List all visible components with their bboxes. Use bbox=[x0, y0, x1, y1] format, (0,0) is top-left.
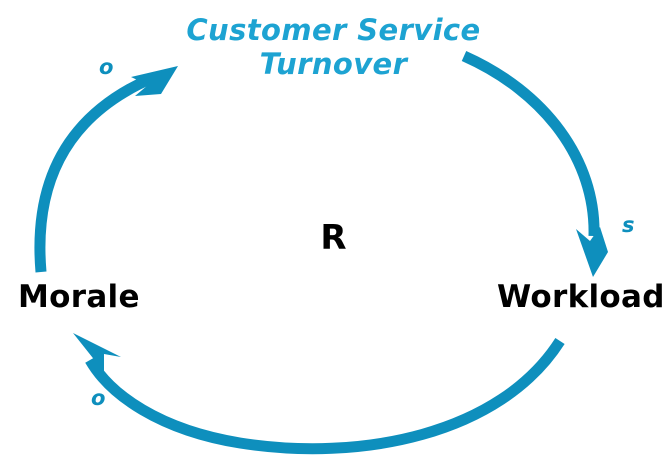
arrow-shaft-right bbox=[464, 56, 594, 236]
diagram-title-line-1: Customer Service bbox=[0, 14, 667, 48]
loop-type-label-reinforcing: R bbox=[0, 221, 667, 255]
arrow-workload-to-morale bbox=[73, 333, 560, 449]
polarity-label-right: s bbox=[622, 215, 635, 236]
arrow-shaft-bottom bbox=[90, 341, 560, 449]
polarity-label-left: o bbox=[99, 57, 113, 78]
node-label-workload: Workload bbox=[497, 282, 665, 313]
polarity-label-bottom: o bbox=[91, 388, 105, 409]
node-label-morale: Morale bbox=[18, 282, 140, 313]
causal-loop-diagram: Customer Service Turnover Morale Workloa… bbox=[0, 0, 667, 469]
